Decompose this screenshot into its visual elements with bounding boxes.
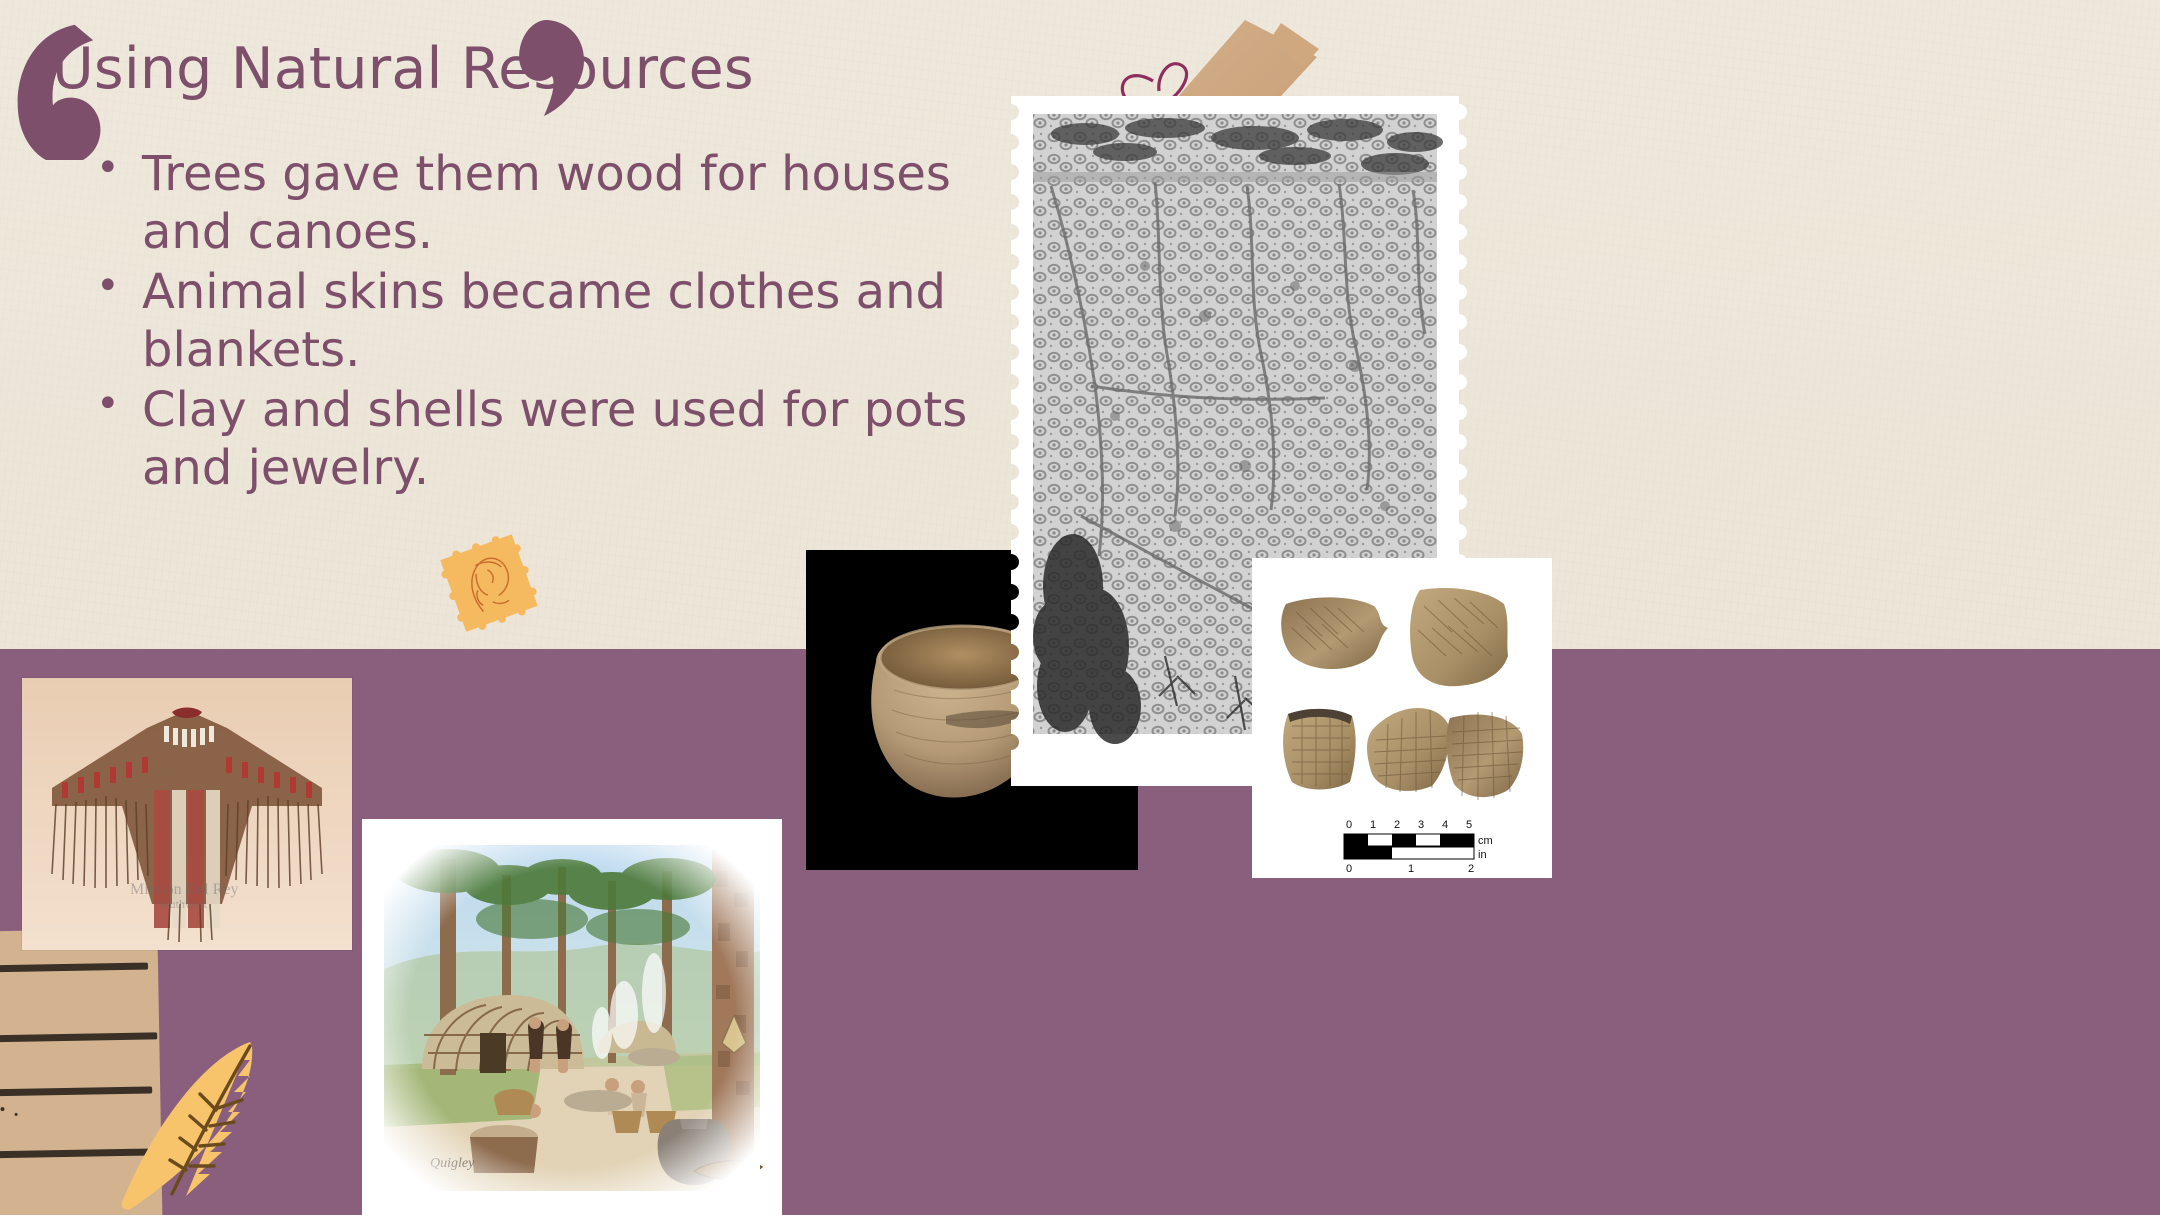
scale-unit-cm: cm bbox=[1478, 835, 1493, 847]
image-regalia: Mission Del Rey Southwest bbox=[22, 678, 352, 950]
cm-tick-5: 5 bbox=[1466, 819, 1472, 831]
page-title: Using Natural Resources bbox=[52, 36, 1052, 102]
pottery-sherds-plate: 0 1 2 3 4 5 cm in 0 1 2 bbox=[1252, 558, 1552, 878]
bullet-item-trees: Trees gave them wood for houses and cano… bbox=[86, 146, 1026, 261]
bullet-item-clay: Clay and shells were used for pots and j… bbox=[86, 382, 1026, 497]
watermark-line1: Mission Del Rey bbox=[130, 881, 238, 898]
in-tick-0: 0 bbox=[1346, 863, 1352, 875]
cm-tick-4: 4 bbox=[1442, 819, 1448, 831]
bullet-list: Trees gave them wood for houses and cano… bbox=[86, 146, 1026, 501]
cm-tick-3: 3 bbox=[1418, 819, 1424, 831]
cm-tick-2: 2 bbox=[1394, 819, 1400, 831]
war-shirt-illustration: Mission Del Rey Southwest bbox=[22, 678, 352, 950]
cm-tick-1: 1 bbox=[1370, 819, 1376, 831]
slide-canvas: Using Natural Resources Trees gave them … bbox=[0, 0, 2160, 1215]
bullet-item-skins: Animal skins became clothes and blankets… bbox=[86, 264, 1026, 379]
in-tick-1: 1 bbox=[1408, 863, 1414, 875]
in-tick-2: 2 bbox=[1468, 863, 1474, 875]
feather-decoration bbox=[100, 1030, 290, 1215]
cm-tick-0: 0 bbox=[1346, 819, 1352, 831]
image-village: Quigley bbox=[362, 819, 782, 1215]
village-illustration: Quigley bbox=[362, 819, 782, 1215]
feather-quill-icon bbox=[100, 1030, 290, 1215]
watermark-line2: Southwest bbox=[157, 897, 208, 911]
scale-unit-in: in bbox=[1478, 849, 1487, 861]
pottery-sherds-photo: 0 1 2 3 4 5 cm in 0 1 2 bbox=[1252, 558, 1552, 878]
